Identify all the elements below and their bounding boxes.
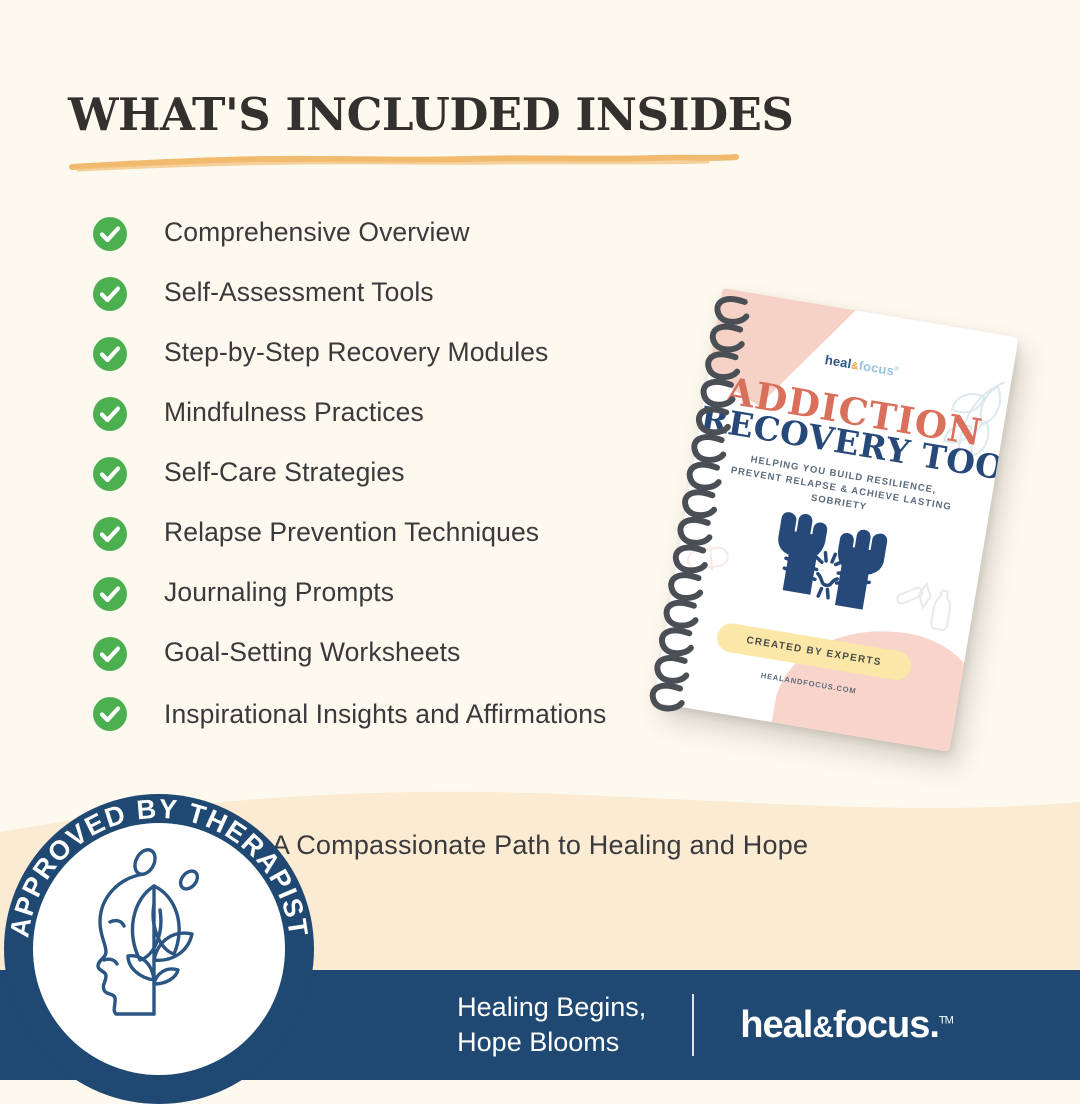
list-item-label: Mindfulness Practices — [164, 392, 424, 432]
green-check-circle-icon — [90, 334, 130, 374]
green-check-circle-icon — [90, 574, 130, 614]
list-item: Self-Assessment Tools — [90, 272, 690, 314]
footer-tagline-line1: Healing Begins, — [457, 990, 646, 1025]
green-check-circle-icon — [90, 394, 130, 434]
list-item: Goal-Setting Worksheets — [90, 632, 690, 674]
list-item: Journaling Prompts — [90, 572, 690, 614]
page-title: WHAT'S INCLUDED INSIDES — [68, 88, 828, 141]
approved-by-therapist-badge: APPROVED BY THERAPIST — [0, 774, 324, 1104]
footer-content: Healing Begins, Hope Blooms heal&focus.T… — [330, 970, 1080, 1080]
book-logo-part1: heal — [824, 352, 853, 371]
footer-logo-ampersand: & — [812, 1011, 833, 1044]
list-item: Inspirational Insights and Affirmations — [90, 692, 690, 736]
features-checklist: Comprehensive Overview Self-Assessment T… — [90, 212, 690, 736]
footer-tagline-line2: Hope Blooms — [457, 1025, 646, 1060]
list-item-label: Journaling Prompts — [164, 572, 394, 612]
footer-brand-logo: heal&focus.TM — [740, 1004, 953, 1047]
green-check-circle-icon — [90, 514, 130, 554]
list-item-label: Relapse Prevention Techniques — [164, 512, 539, 552]
book-cover: heal&focus® ADDICTION RECOVERY TOOLKIT H… — [653, 288, 1018, 752]
list-item: Mindfulness Practices — [90, 392, 690, 434]
footer-logo-part1: heal — [740, 1004, 812, 1046]
list-item: Relapse Prevention Techniques — [90, 512, 690, 554]
green-check-circle-icon — [90, 214, 130, 254]
list-item-label: Step-by-Step Recovery Modules — [164, 332, 548, 372]
list-item: Step-by-Step Recovery Modules — [90, 332, 690, 374]
footer-tagline: Healing Begins, Hope Blooms — [457, 990, 646, 1060]
green-check-circle-icon — [90, 454, 130, 494]
footer-logo-tm: TM — [939, 1014, 953, 1026]
list-item-label: Self-Assessment Tools — [164, 272, 434, 312]
green-check-circle-icon — [90, 694, 130, 734]
list-item: Comprehensive Overview — [90, 212, 690, 254]
book-mockup: heal&focus® ADDICTION RECOVERY TOOLKIT H… — [652, 292, 1052, 762]
book-logo-tm: ® — [894, 366, 900, 373]
list-item: Self-Care Strategies — [90, 452, 690, 494]
green-check-circle-icon — [90, 634, 130, 674]
footer-logo-part2: focus. — [833, 1004, 939, 1046]
green-check-circle-icon — [90, 274, 130, 314]
header-block: WHAT'S INCLUDED INSIDES — [68, 88, 828, 173]
list-item-label: Comprehensive Overview — [164, 212, 470, 252]
list-item-label: Self-Care Strategies — [164, 452, 405, 492]
hand-drawn-underline-icon — [68, 151, 740, 173]
poster-canvas: WHAT'S INCLUDED INSIDES Comprehensive Ov… — [0, 0, 1080, 1080]
list-item-label: Goal-Setting Worksheets — [164, 632, 460, 672]
list-item-label: Inspirational Insights and Affirmations — [164, 692, 606, 736]
book-logo-part2: focus — [858, 358, 896, 379]
footer-divider — [692, 994, 694, 1056]
